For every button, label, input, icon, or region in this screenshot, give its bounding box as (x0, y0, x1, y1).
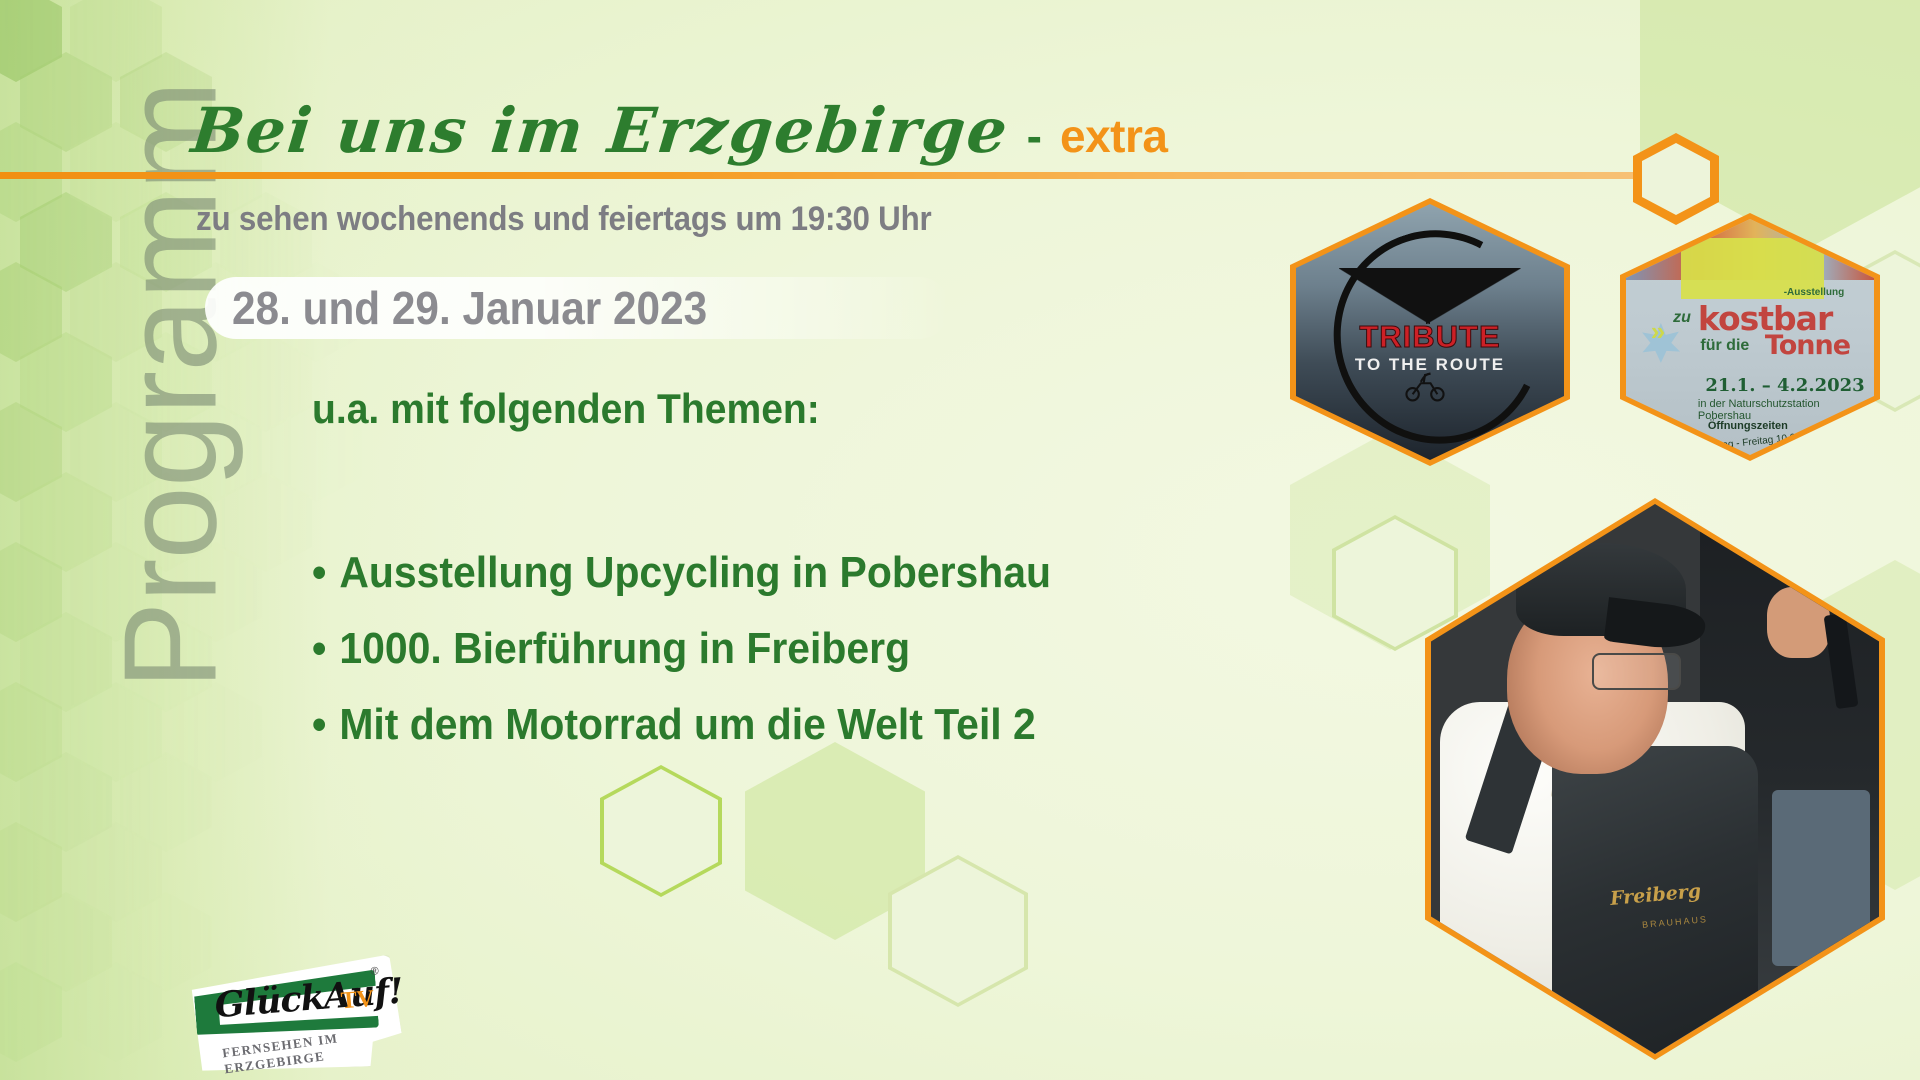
glasses-icon (1592, 653, 1681, 690)
motorcycle-icon (1403, 368, 1447, 404)
poster-dates: 21.1. – 4.2.2023 (1705, 375, 1864, 396)
orange-divider-line (0, 172, 1649, 179)
bullet-icon: • (312, 700, 326, 749)
title-dash: - (1027, 109, 1042, 163)
list-item: •Ausstellung Upcycling in Pobershau (312, 535, 1051, 611)
poster-word-zu: zu (1673, 309, 1691, 327)
logo-tv-text: TV (340, 986, 375, 1016)
decorative-hexagon-outline (888, 855, 1028, 1007)
chevron-right-icon: » (1651, 316, 1665, 347)
poster-word-fuer-die: für die (1700, 337, 1749, 355)
list-item-label: Mit dem Motorrad um die Welt Teil 2 (339, 700, 1035, 749)
poster-kicker: -Ausstellung (1784, 287, 1845, 298)
broadcast-date: 28. und 29. Januar 2023 (232, 281, 707, 335)
poster-canvas: Programm Bei uns im Erzgebirge - extra z… (0, 0, 1920, 1080)
decorative-hexagon-outline (600, 765, 722, 897)
topics-heading: u.a. mit folgenden Themen: (312, 385, 820, 433)
list-item: •Mit dem Motorrad um die Welt Teil 2 (312, 687, 1051, 763)
poster-hours-label: Öffnungszeiten (1708, 420, 1788, 432)
list-item-label: 1000. Bierführung in Freiberg (339, 624, 910, 673)
title-extra-text: extra (1060, 109, 1167, 163)
tribute-title-line1: TRIBUTE (1296, 319, 1564, 355)
bullet-icon: • (312, 548, 326, 597)
topics-list: •Ausstellung Upcycling in Pobershau •100… (312, 535, 1107, 763)
mountain-icon (1339, 268, 1521, 324)
broadcast-time-subtitle: zu sehen wochenends und feiertags um 19:… (196, 200, 931, 239)
list-item-label: Ausstellung Upcycling in Pobershau (339, 548, 1051, 597)
logo-registered-icon: ® (370, 965, 379, 978)
page-title: Bei uns im Erzgebirge - extra (192, 94, 1167, 167)
bullet-icon: • (312, 624, 326, 673)
poster-word-tonne: Tonne (1765, 330, 1850, 361)
title-script-text: Bei uns im Erzgebirge (188, 94, 1012, 167)
hexagon-image-inner: » -Ausstellung zu kostbar für die Tonne … (1626, 219, 1874, 455)
glueckauf-tv-logo: GlückAuf! TV ® FERNSEHEN IM ERZGEBIRGE (186, 954, 404, 1080)
list-item: •1000. Bierführung in Freiberg (312, 611, 1051, 687)
